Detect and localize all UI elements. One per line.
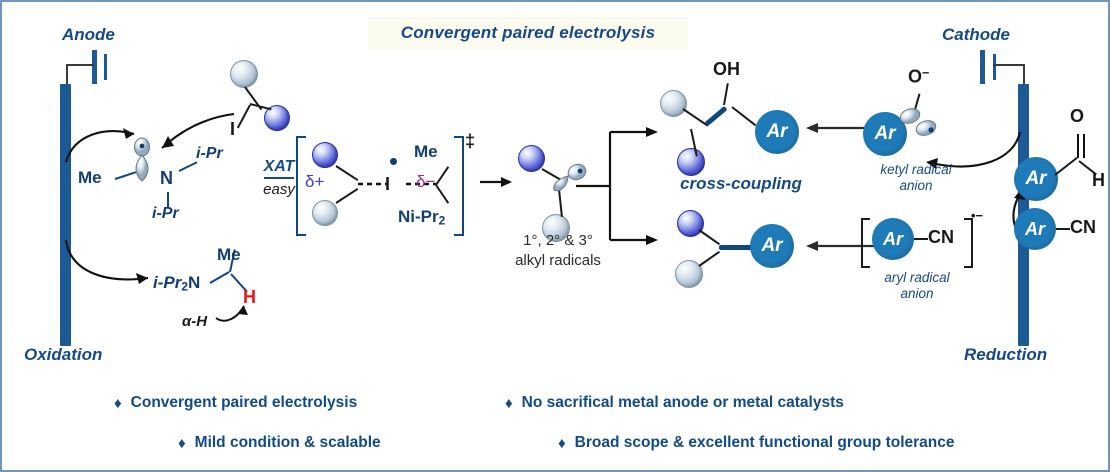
product-arene-sphere-dark <box>677 210 704 237</box>
aryl-anion-ar-group: Ar <box>872 218 914 260</box>
aldehyde-h-label: H <box>1092 170 1105 191</box>
ts-dagger-symbol: ‡ <box>465 131 475 152</box>
nitrile-ar-group: Ar <box>1014 208 1056 250</box>
alkyl-radical-sphere-dark <box>518 145 545 172</box>
list-item: ♦ Mild condition & scalable <box>178 434 381 452</box>
ketyl-o-minus-label: O− <box>908 66 929 87</box>
cathode-wire-horizontal <box>993 64 1025 66</box>
diamond-bullet-icon: ♦ <box>505 396 513 411</box>
anode-battery-long-plate <box>92 50 97 84</box>
anode-wire-vertical <box>66 64 68 86</box>
ts-amine-label: Ni-Pr2 <box>398 207 445 228</box>
diamond-bullet-icon: ♦ <box>178 436 186 451</box>
nitrile-cn-label: CN <box>1070 217 1096 238</box>
diamond-bullet-icon: ♦ <box>558 436 566 451</box>
bond-c-oh <box>723 83 729 105</box>
product-alcohol-sphere-dark <box>677 148 705 176</box>
aryl-anion-cn-label: CN <box>928 227 954 248</box>
aldehyde-o-label: O <box>1070 106 1084 127</box>
cathode-wire-vertical <box>1023 64 1025 86</box>
bond-aryl-anion-cn <box>914 238 928 240</box>
aldehyde-ar-group: Ar <box>1014 157 1058 201</box>
ts-bond-lower <box>335 188 358 204</box>
product-arene-ar-group: Ar <box>750 224 794 268</box>
list-item: ♦ Convergent paired electrolysis <box>114 394 357 412</box>
alpha-h-pointer-arrow <box>214 298 254 326</box>
cathode-label: Cathode <box>942 25 1010 45</box>
bond-arene-light-to-c <box>698 251 720 267</box>
product-alcohol-oh-label: OH <box>713 59 740 80</box>
reduction-label: Reduction <box>964 345 1047 365</box>
bond-nitrile-ar-cn <box>1056 228 1070 230</box>
page-title: Convergent paired electrolysis <box>401 23 655 43</box>
aryl-anion-bracket-right <box>964 218 973 268</box>
list-item: ♦ No sacrifical metal anode or metal cat… <box>505 394 844 412</box>
amine-nitrogen-label: N <box>160 168 173 189</box>
bond-n-to-ch <box>210 271 230 284</box>
bond-arene-dark-to-c <box>698 229 720 245</box>
cathode-battery-short-plate <box>993 54 996 80</box>
substrate-me-label: Me <box>217 245 241 265</box>
amine-me-label: Me <box>78 168 102 188</box>
alkyl-radicals-caption-line2: alkyl radicals <box>496 252 620 269</box>
highlights-list: ♦ Convergent paired electrolysis ♦ No sa… <box>2 384 1110 472</box>
ts-radical-dot-icon <box>390 158 397 165</box>
aldehyde-carbonyl-double-bond <box>1074 128 1096 160</box>
bond-alcohol-c-to-ar <box>731 106 756 126</box>
oxidation-label: Oxidation <box>24 345 102 365</box>
ts-sphere-dark <box>312 142 338 168</box>
ketyl-caption-line2: anion <box>858 178 974 193</box>
anode-wire-horizontal <box>66 64 94 66</box>
list-item-label: Mild condition & scalable <box>195 434 381 452</box>
cross-coupling-label: cross-coupling <box>651 174 831 194</box>
product-alcohol-sphere-light <box>660 90 687 117</box>
bond-alcohol-backbone <box>704 106 727 127</box>
alpha-h-annotation: α-H <box>182 313 207 330</box>
amine-ipr-bottom-label: i-Pr <box>152 205 179 223</box>
ketyl-caption-line1: ketyl radical <box>858 162 974 177</box>
anode-battery-short-plate <box>104 54 107 80</box>
cathode-battery-long-plate <box>980 50 985 84</box>
aryl-anion-charge-label: •− <box>971 208 983 223</box>
substrate-amine-left-label: i-Pr2N <box>153 273 200 294</box>
ketyl-radical-lobe-icon <box>900 106 944 144</box>
ts-bracket-right <box>454 136 464 236</box>
xat-transfer-arrow <box>150 110 240 160</box>
anode-label: Anode <box>62 25 115 45</box>
ts-to-radical-arrow <box>480 174 514 190</box>
ts-delta-minus-label: δ− <box>416 172 435 192</box>
list-item-label: Convergent paired electrolysis <box>131 394 358 412</box>
bond-n-ipr-top <box>179 161 198 172</box>
product-alcohol-ar-group: Ar <box>755 110 799 154</box>
list-item-label: Broad scope & excellent functional group… <box>575 434 955 452</box>
xat-label: XAT <box>264 158 295 179</box>
list-item-label: No sacrifical metal anode or metal catal… <box>522 394 844 412</box>
ts-sphere-light <box>312 200 338 226</box>
scheme-title-banner: Convergent paired electrolysis <box>368 17 688 49</box>
alkyl-iodide-sphere-light <box>230 60 258 88</box>
aryl-anion-caption-line1: aryl radical <box>856 270 978 285</box>
scheme-figure: Convergent paired electrolysis Anode Oxi… <box>0 0 1110 472</box>
ts-me-label: Me <box>414 142 438 162</box>
ts-bond-upper <box>335 165 358 181</box>
ts-iodine-label: I <box>385 174 390 195</box>
aryl-anion-bracket-left <box>861 218 870 268</box>
list-item: ♦ Broad scope & excellent functional gro… <box>558 434 954 452</box>
diamond-bullet-icon: ♦ <box>114 396 122 411</box>
ts-delta-plus-label: δ+ <box>305 172 324 192</box>
aryl-anion-caption-line2: anion <box>856 286 978 301</box>
